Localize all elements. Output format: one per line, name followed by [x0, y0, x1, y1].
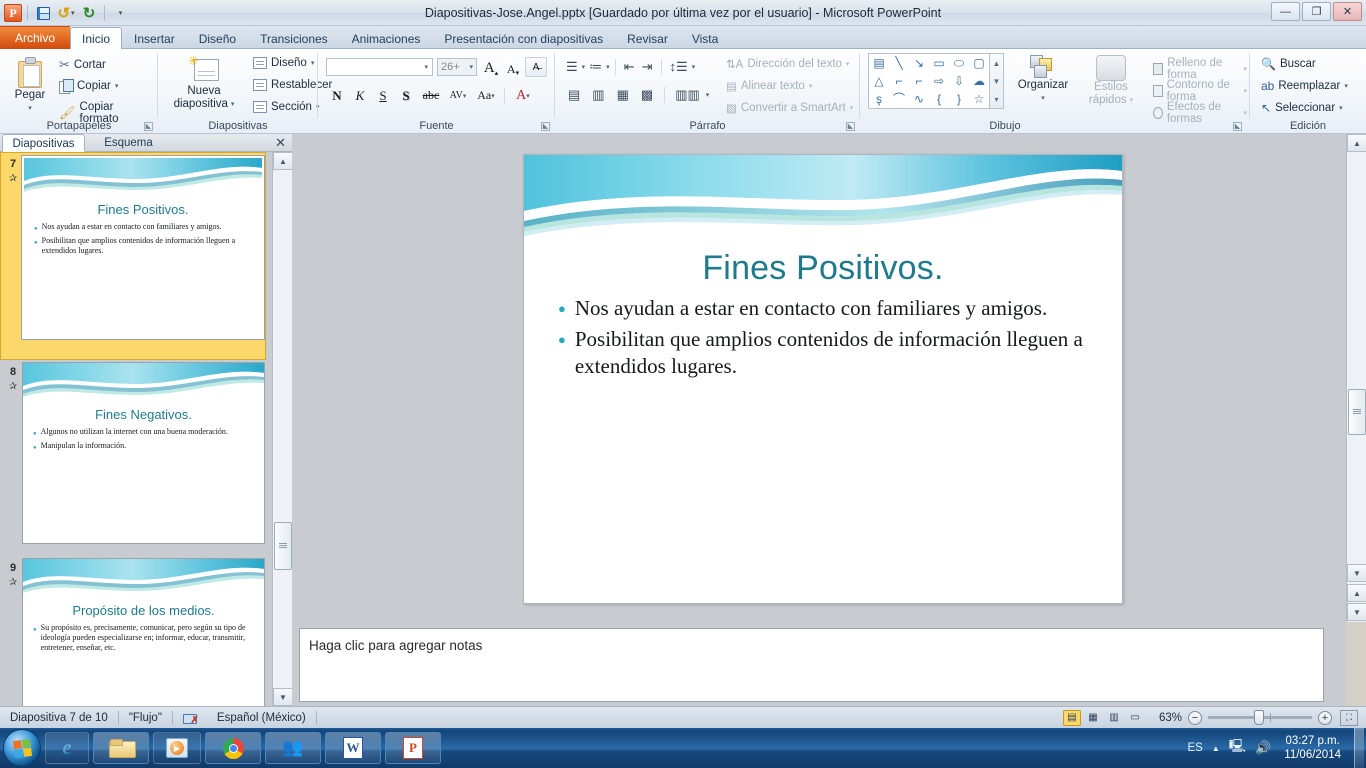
tab-presentacion[interactable]: Presentación con diapositivas: [432, 27, 615, 49]
paste-icon: [15, 55, 45, 89]
tab-archivo[interactable]: Archivo: [0, 26, 70, 49]
tab-revisar[interactable]: Revisar: [615, 27, 680, 49]
select-button[interactable]: ↖ Seleccionar ▾: [1258, 100, 1346, 116]
zoom-level[interactable]: 63%: [1152, 712, 1182, 724]
divider: [661, 59, 662, 75]
numbering-icon[interactable]: ≔: [586, 57, 605, 77]
powerpoint-icon: P: [403, 737, 423, 759]
shape-arrow-icon[interactable]: ↘: [914, 57, 924, 69]
chevron-down-icon: ▾: [1243, 87, 1247, 95]
slide-title[interactable]: Fines Positivos.: [524, 249, 1122, 288]
window-controls: — ❐ ✕: [1271, 2, 1362, 21]
list-item[interactable]: 9 ✰ Propósito de los medios. ●: [0, 556, 272, 706]
shapes-gallery[interactable]: ▤ ╲ ↘ ▭ ⬭ ▢ △ ⌐ ⌐ ⇨ ⇩ ☁ ş ⌒ ∿ { }: [868, 53, 990, 109]
layout-icon: [253, 57, 267, 69]
align-text-label: Alinear texto: [741, 80, 805, 92]
tab-esquema[interactable]: Esquema: [87, 134, 170, 152]
group-label-editing: Edición: [1250, 120, 1366, 132]
shape-freeform-icon[interactable]: ş: [876, 93, 882, 105]
columns-icon[interactable]: ▥▥: [671, 85, 704, 105]
chevron-down-icon: ▾: [846, 60, 850, 68]
clear-formatting-icon[interactable]: A̶: [525, 57, 547, 77]
chevron-down-icon: ▾: [850, 104, 854, 112]
slide-number: 7: [4, 158, 22, 170]
scissors-icon: ✂: [59, 57, 70, 73]
arrange-label: Organizar: [1018, 79, 1069, 92]
previous-slide-button[interactable]: ▲: [1347, 584, 1366, 602]
redo-button[interactable]: ↻: [79, 3, 99, 23]
binoculars-icon: 🔍: [1261, 57, 1276, 71]
bullet-icon: ●: [558, 326, 566, 353]
decrease-indent-icon[interactable]: ⇤: [621, 57, 638, 77]
align-left-icon[interactable]: ▤: [563, 85, 585, 105]
slide-body-placeholder[interactable]: ● Nos ayudan a estar en contacto con fam…: [558, 295, 1094, 380]
scroll-up-button[interactable]: ▲: [1347, 134, 1366, 152]
taskbar-item-internet-explorer[interactable]: e: [45, 732, 89, 764]
shape-arc-icon[interactable]: ∿: [914, 93, 924, 105]
change-case-label: Aa: [477, 88, 491, 103]
customize-quick-access-button[interactable]: ▾: [110, 3, 130, 23]
slide-preview: Fines Positivos. ● Nos ayudan a estar en…: [24, 158, 262, 337]
font-size-value: 26+: [441, 61, 469, 73]
fill-bucket-icon: [1153, 63, 1163, 75]
chevron-down-icon: ▾: [115, 82, 119, 90]
windows-logo-icon: [12, 738, 31, 757]
effects-icon: [1153, 107, 1163, 119]
zoom-slider[interactable]: [1208, 716, 1312, 719]
zoom-out-button[interactable]: −: [1188, 711, 1202, 725]
shape-textbox-icon[interactable]: ▤: [873, 57, 884, 69]
tab-animaciones[interactable]: Animaciones: [340, 27, 433, 49]
tab-diseno[interactable]: Diseño: [187, 27, 248, 49]
ribbon-tab-bar: Archivo Inicio Insertar Diseño Transicio…: [0, 26, 1366, 49]
underline-button[interactable]: S: [372, 85, 394, 106]
slides-pane-tabs: Diapositivas Esquema ✕: [0, 134, 292, 152]
shapes-more-icon[interactable]: ▾: [994, 90, 998, 108]
spellcheck-error-icon: [183, 712, 197, 724]
status-bar: Diapositiva 7 de 10 "Flujo" Español (Méx…: [0, 706, 1366, 728]
text-direction-button[interactable]: ⇅A Dirección del texto ▾: [723, 56, 852, 72]
zoom-slider-tick: [1270, 713, 1271, 722]
zoom-slider-handle[interactable]: [1254, 710, 1264, 725]
replace-button[interactable]: ab Reemplazar ▾: [1258, 78, 1351, 94]
divider: [615, 59, 616, 75]
new-slide-label-1: Nueva: [187, 85, 220, 98]
ribbon-group-paragraph: ☰▾ ≔▾ ⇤ ⇥ ↕☰▾ ▤ ▥ ▦ ▩ ▥▥▾ ⇅A Dirección d…: [555, 49, 860, 134]
justify-icon[interactable]: ▩: [636, 85, 658, 105]
animation-indicator-icon: ✰: [4, 381, 22, 392]
zoom-controls: 63% − +: [1144, 711, 1340, 725]
drawing-dialog-launcher[interactable]: ◣: [1233, 122, 1242, 131]
section-button[interactable]: Sección ▾: [250, 100, 322, 114]
list-item: ● Algunos no utilizan la internet con un…: [33, 427, 256, 439]
system-tray: ES ▲ 🖳 🔊 03:27 p.m. 11/06/2014: [1188, 728, 1366, 768]
bullet-icon: ●: [33, 443, 37, 453]
chevron-down-icon[interactable]: ▾: [606, 63, 610, 71]
bullets-icon[interactable]: ☰: [563, 57, 581, 77]
minimize-button[interactable]: —: [1271, 2, 1300, 21]
group-label-paragraph: Párrafo: [555, 120, 860, 132]
tab-vista[interactable]: Vista: [680, 27, 730, 49]
show-hidden-icons-button[interactable]: ▲: [1212, 744, 1220, 753]
taskbar-item-media-player[interactable]: ▶: [153, 732, 201, 764]
chevron-down-icon: ▾: [231, 98, 235, 111]
taskbar-item-word[interactable]: W: [325, 732, 381, 764]
tab-diapositivas[interactable]: Diapositivas: [2, 134, 85, 152]
bullet-icon: ●: [34, 224, 38, 234]
save-icon: [37, 7, 50, 20]
quick-styles-button[interactable]: Estilos rápidos ▾: [1080, 55, 1142, 107]
close-pane-icon[interactable]: ✕: [275, 135, 286, 151]
slides-pane-scrollbar[interactable]: ▲ ▼: [272, 152, 292, 706]
group-label-font: Fuente: [318, 120, 555, 132]
slide-editing-stage: Fines Positivos. ● Nos ayudan a estar en…: [292, 134, 1346, 622]
redo-icon: ↻: [83, 6, 96, 21]
layout-label: Diseño: [271, 57, 307, 69]
chevron-down-icon[interactable]: ▾: [692, 63, 696, 71]
undo-button[interactable]: ↺▾: [56, 3, 76, 23]
align-text-icon: ▤: [726, 79, 737, 93]
slide-title: Propósito de los medios.: [23, 603, 264, 618]
word-icon: W: [343, 737, 363, 759]
clock-date: 11/06/2014: [1284, 748, 1341, 762]
bullet-icon: ●: [33, 429, 37, 439]
divider: [104, 5, 105, 21]
shape-line-icon[interactable]: ╲: [895, 57, 902, 69]
strikethrough-button[interactable]: abc: [418, 85, 444, 106]
new-slide-button[interactable]: ✳ Nueva diapositiva ▾: [166, 55, 242, 111]
paragraph-dialog-launcher[interactable]: ◣: [846, 122, 855, 131]
slide-title: Fines Negativos.: [23, 407, 264, 422]
bullet-icon: ●: [558, 295, 566, 322]
chevron-down-icon: ▾: [119, 9, 123, 17]
folder-icon: [109, 739, 134, 758]
spellcheck-status[interactable]: [173, 707, 207, 729]
bold-button[interactable]: N: [326, 85, 348, 106]
list-item[interactable]: 8 ✰ Fines Negativos. ●: [0, 360, 272, 556]
chevron-down-icon: ▾: [424, 63, 428, 71]
clock[interactable]: 03:27 p.m. 11/06/2014: [1280, 734, 1345, 762]
copy-label: Copiar: [77, 80, 111, 92]
slide-wave-graphic: [23, 559, 264, 601]
bullet-text: Posibilitan que amplios contenidos de in…: [575, 326, 1094, 380]
taskbar-item-windows-explorer[interactable]: [93, 732, 149, 764]
slide-thumbnail[interactable]: Fines Positivos. ● Nos ayudan a estar en…: [22, 156, 264, 339]
list-item: ● Nos ayudan a estar en contacto con fam…: [558, 295, 1094, 322]
select-label: Seleccionar: [1275, 102, 1335, 114]
increase-indent-icon[interactable]: ⇥: [639, 57, 656, 77]
slide-sorter-button[interactable]: ▦: [1084, 710, 1102, 726]
theme-name[interactable]: "Flujo": [119, 707, 172, 729]
chevron-down-icon: ▾: [1243, 109, 1247, 117]
ribbon-group-font: ▾ 26+ ▾ A▴ A▾ A̶ N K S S abc AV▾: [318, 49, 555, 134]
slide-body: ● Su propósito es, precisamente, comunic…: [33, 623, 256, 653]
section-label: Sección: [271, 101, 312, 113]
grip-icon: [1353, 409, 1361, 415]
taskbar-item-powerpoint[interactable]: P: [385, 732, 441, 764]
smartart-icon: ▧: [726, 101, 737, 115]
text-shadow-button[interactable]: S: [395, 85, 417, 106]
slide-body: ● Algunos no utilizan la internet con un…: [33, 427, 256, 453]
brush-icon: 🖌: [59, 105, 76, 121]
scroll-down-button[interactable]: ▼: [273, 688, 293, 706]
shape-effects-label: Efectos de formas: [1167, 101, 1240, 125]
quick-access-toolbar: P ↺▾ ↻ ▾: [4, 2, 130, 24]
grip-icon: [279, 543, 287, 549]
slide-thumbnail[interactable]: Propósito de los medios. ● Su propósito …: [22, 558, 265, 706]
chevron-down-icon: ▾: [526, 92, 530, 100]
shape-cloud-icon[interactable]: ☁: [973, 75, 985, 87]
bullet-icon: ●: [33, 625, 37, 635]
current-slide[interactable]: Fines Positivos. ● Nos ayudan a estar en…: [523, 154, 1123, 604]
scroll-up-button[interactable]: ▲: [273, 152, 293, 170]
slide-counter[interactable]: Diapositiva 7 de 10: [0, 707, 118, 729]
group-label-drawing: Dibujo: [860, 120, 1150, 132]
shape-oval-icon[interactable]: ⬭: [954, 57, 964, 69]
slide-thumbnail[interactable]: Fines Negativos. ● Algunos no utilizan l…: [22, 362, 265, 544]
find-button[interactable]: 🔍 Buscar: [1258, 56, 1319, 72]
copy-button[interactable]: Copiar ▾: [56, 78, 121, 94]
layout-button[interactable]: Diseño ▾: [250, 56, 317, 70]
ribbon-tabs: Archivo Inicio Insertar Diseño Transicio…: [0, 26, 1366, 49]
shape-triangle-icon[interactable]: △: [874, 75, 883, 87]
increase-font-size-button[interactable]: A▴: [481, 57, 501, 77]
replace-icon: ab: [1261, 79, 1274, 93]
bullet-text: Nos ayudan a estar en contacto con famil…: [42, 222, 222, 232]
replace-label: Reemplazar: [1278, 80, 1340, 92]
chevron-down-icon: ▾: [1243, 65, 1247, 73]
character-spacing-button[interactable]: AV▾: [445, 85, 471, 106]
restore-button[interactable]: ❐: [1302, 2, 1331, 21]
chevron-down-icon: ▾: [463, 92, 467, 100]
scroll-down-icon[interactable]: ▼: [993, 72, 1001, 90]
quick-styles-label-1: Estilos: [1094, 81, 1128, 94]
animation-indicator-icon: ✰: [4, 577, 22, 588]
divider: [27, 5, 28, 21]
media-player-icon: ▶: [166, 738, 188, 758]
window-title: Diapositivas-Jose.Angel.pptx [Guardado p…: [0, 0, 1366, 26]
quick-styles-label-2: rápidos: [1089, 94, 1127, 107]
undo-icon: ↺: [57, 6, 70, 21]
ribbon-group-clipboard: Pegar ▾ ✂ Cortar Copiar ▾ 🖌 Copiar forma…: [0, 49, 158, 134]
bullet-text: Algunos no utilizan la internet con una …: [41, 427, 228, 437]
chevron-down-icon: ▾: [1041, 92, 1045, 105]
cut-button[interactable]: ✂ Cortar: [56, 56, 109, 74]
slides-pane: Diapositivas Esquema ✕ 7 ✰: [0, 134, 292, 706]
reset-icon: [253, 79, 267, 91]
cursor-icon: ↖: [1261, 101, 1271, 115]
shape-right-brace-icon[interactable]: }: [957, 93, 961, 105]
outline-pen-icon: [1153, 85, 1163, 97]
group-label-slides: Diapositivas: [158, 120, 318, 132]
copy-icon: [59, 79, 73, 93]
normal-view-button[interactable]: ▤: [1063, 710, 1081, 726]
fit-to-window-button[interactable]: ⛶: [1340, 710, 1358, 726]
paste-label: Pegar: [15, 89, 46, 102]
tab-transiciones[interactable]: Transiciones: [248, 27, 340, 49]
convert-smartart-label: Convertir a SmartArt: [741, 102, 846, 114]
notes-pane: Haga clic para agregar notas: [292, 622, 1346, 706]
slide-preview: Propósito de los medios. ● Su propósito …: [23, 559, 264, 706]
font-color-button[interactable]: A▾: [509, 85, 537, 106]
tab-insertar[interactable]: Insertar: [122, 27, 187, 49]
slide-title: Fines Positivos.: [24, 202, 262, 217]
volume-icon[interactable]: 🔊: [1255, 740, 1271, 756]
convert-smartart-button[interactable]: ▧ Convertir a SmartArt ▾: [723, 100, 856, 116]
slide-area-scrollbar[interactable]: ▲ ▼ ▲ ▼: [1346, 134, 1366, 622]
change-case-button[interactable]: Aa▾: [472, 85, 500, 106]
find-label: Buscar: [1280, 58, 1316, 70]
slide-thumbnail-list[interactable]: 7 ✰: [0, 152, 272, 706]
slide-canvas[interactable]: Fines Positivos. ● Nos ayudan a estar en…: [524, 155, 1122, 603]
chevron-down-icon[interactable]: ▾: [582, 63, 586, 71]
new-slide-icon: ✳: [188, 55, 220, 85]
shape-elbow-connector-icon[interactable]: ⌐: [895, 75, 902, 87]
slide-preview: Fines Negativos. ● Algunos no utilizan l…: [23, 363, 264, 543]
decrease-font-size-button[interactable]: A▾: [503, 57, 523, 77]
slide-wave-graphic: [23, 363, 264, 405]
chevron-down-icon: ▾: [311, 59, 315, 67]
list-item: ● Nos ayudan a estar en contacto con fam…: [34, 222, 254, 234]
text-direction-icon: ⇅A: [726, 57, 743, 71]
divider: [664, 87, 665, 103]
quick-styles-icon: [1096, 55, 1126, 81]
chevron-down-icon[interactable]: ▾: [706, 91, 710, 99]
reading-view-button[interactable]: ▥: [1105, 710, 1123, 726]
shape-rectangle-icon[interactable]: ▭: [933, 57, 944, 69]
bullet-icon: ●: [34, 238, 38, 248]
language-indicator[interactable]: ES: [1188, 742, 1203, 754]
chrome-icon: [223, 738, 244, 759]
taskbar-item-chrome[interactable]: [205, 732, 261, 764]
section-icon: [253, 101, 267, 113]
shape-star-icon[interactable]: ☆: [974, 93, 985, 105]
shape-rounded-rectangle-icon[interactable]: ▢: [973, 57, 984, 69]
ribbon-group-drawing: ▤ ╲ ↘ ▭ ⬭ ▢ △ ⌐ ⌐ ⇨ ⇩ ☁ ş ⌒ ∿ { }: [860, 49, 1250, 134]
title-bar: P ↺▾ ↻ ▾ Diapositivas-Jose.Angel.pptx [G…: [0, 0, 1366, 26]
scroll-down-button[interactable]: ▼: [1347, 564, 1366, 582]
align-text-button[interactable]: ▤ Alinear texto ▾: [723, 78, 815, 94]
font-color-label: A: [516, 88, 526, 104]
clipboard-dialog-launcher[interactable]: ◣: [144, 122, 153, 131]
slide-number: 9: [4, 562, 22, 574]
view-buttons: ▤ ▦ ▥ ▭: [1063, 710, 1144, 726]
group-label-clipboard: Portapapeles: [0, 120, 158, 132]
slide-body: ● Nos ayudan a estar en contacto con fam…: [34, 222, 254, 256]
zoom-in-button[interactable]: +: [1318, 711, 1332, 725]
tab-inicio[interactable]: Inicio: [70, 27, 122, 49]
show-desktop-button[interactable]: [1354, 728, 1364, 768]
arrange-icon: [1030, 55, 1056, 79]
start-button[interactable]: [3, 729, 41, 767]
scrollbar-thumb[interactable]: [274, 522, 292, 570]
line-spacing-icon[interactable]: ↕☰: [667, 57, 691, 77]
bullet-text: Nos ayudan a estar en contacto con famil…: [575, 295, 1047, 322]
chevron-down-icon: ▾: [1339, 104, 1343, 112]
close-button[interactable]: ✕: [1333, 2, 1362, 21]
animation-indicator-icon: ✰: [4, 173, 22, 184]
divider: [316, 711, 317, 725]
list-item: ● Posibilitan que amplios contenidos de …: [558, 326, 1094, 380]
ribbon-group-slides: ✳ Nueva diapositiva ▾ Diseño ▾ Restablec…: [158, 49, 318, 134]
text-direction-label: Dirección del texto: [747, 58, 842, 70]
scroll-up-icon[interactable]: ▲: [993, 54, 1001, 72]
shapes-gallery-scrollbar[interactable]: ▲ ▼ ▾: [990, 53, 1004, 109]
save-button[interactable]: [33, 3, 53, 23]
powerpoint-window: P ↺▾ ↻ ▾ Diapositivas-Jose.Angel.pptx [G…: [0, 0, 1366, 768]
ribbon-group-editing: 🔍 Buscar ab Reemplazar ▾ ↖ Seleccionar ▾…: [1250, 49, 1366, 134]
windows-taskbar: e ▶ 👥 W P ES ▲ 🖳 🔊 03:27 p.m. 11/06/2014: [0, 728, 1366, 768]
scrollbar-thumb[interactable]: [1348, 389, 1366, 435]
paste-button[interactable]: Pegar ▾: [8, 55, 52, 115]
new-slide-label-2: diapositiva: [174, 98, 228, 111]
clock-time: 03:27 p.m.: [1284, 734, 1341, 748]
character-spacing-label: AV: [450, 90, 463, 101]
italic-button[interactable]: K: [349, 85, 371, 106]
list-item: ● Posibilitan que amplios contenidos de …: [34, 236, 254, 256]
chevron-down-icon: ▾: [469, 63, 473, 71]
bullet-text: Posibilitan que amplios contenidos de in…: [42, 236, 254, 256]
powerpoint-logo-icon: P: [4, 4, 22, 22]
align-right-icon[interactable]: ▦: [612, 85, 634, 105]
chevron-down-icon: ▾: [809, 82, 813, 90]
taskbar-item-messenger[interactable]: 👥: [265, 732, 321, 764]
network-icon[interactable]: 🖳: [1229, 737, 1246, 759]
shape-elbow-arrow-icon[interactable]: ⌐: [915, 75, 922, 87]
messenger-icon: 👥: [282, 738, 303, 758]
slide-number: 8: [4, 366, 22, 378]
notes-placeholder: Haga clic para agregar notas: [309, 638, 482, 653]
font-size-combobox[interactable]: 26+ ▾: [437, 58, 477, 76]
notes-box[interactable]: Haga clic para agregar notas: [299, 628, 1324, 702]
shape-left-brace-icon[interactable]: {: [937, 93, 941, 105]
cut-label: Cortar: [74, 59, 106, 71]
list-item: ● Manipulan la información.: [33, 441, 256, 453]
bullet-text: Manipulan la información.: [41, 441, 127, 451]
chevron-down-icon: ▾: [28, 102, 32, 115]
font-name-combobox[interactable]: ▾: [326, 58, 433, 76]
divider: [504, 88, 505, 104]
chevron-down-icon: ▾: [1344, 82, 1348, 90]
next-slide-button[interactable]: ▼: [1347, 603, 1366, 621]
slide-wave-graphic: [524, 155, 1122, 250]
font-dialog-launcher[interactable]: ◣: [541, 122, 550, 131]
shape-down-arrow-icon[interactable]: ⇩: [954, 75, 964, 87]
ribbon: Pegar ▾ ✂ Cortar Copiar ▾ 🖌 Copiar forma…: [0, 49, 1366, 134]
chevron-down-icon: ▾: [491, 92, 495, 100]
list-item[interactable]: 7 ✰: [0, 152, 272, 360]
bullet-text: Su propósito es, precisamente, comunicar…: [41, 623, 256, 653]
chevron-down-icon: ▾: [71, 9, 75, 17]
chevron-down-icon: ▾: [1130, 94, 1134, 107]
shape-curve-icon[interactable]: ⌒: [893, 93, 905, 105]
arrange-button[interactable]: Organizar ▾: [1012, 55, 1074, 105]
language-indicator[interactable]: Español (México): [207, 707, 316, 729]
shape-right-arrow-icon[interactable]: ⇨: [934, 75, 944, 87]
internet-explorer-icon: e: [63, 737, 72, 760]
list-item: ● Su propósito es, precisamente, comunic…: [33, 623, 256, 653]
slideshow-button[interactable]: ▭: [1126, 710, 1144, 726]
align-center-icon[interactable]: ▥: [587, 85, 609, 105]
slide-wave-graphic: [24, 158, 262, 200]
